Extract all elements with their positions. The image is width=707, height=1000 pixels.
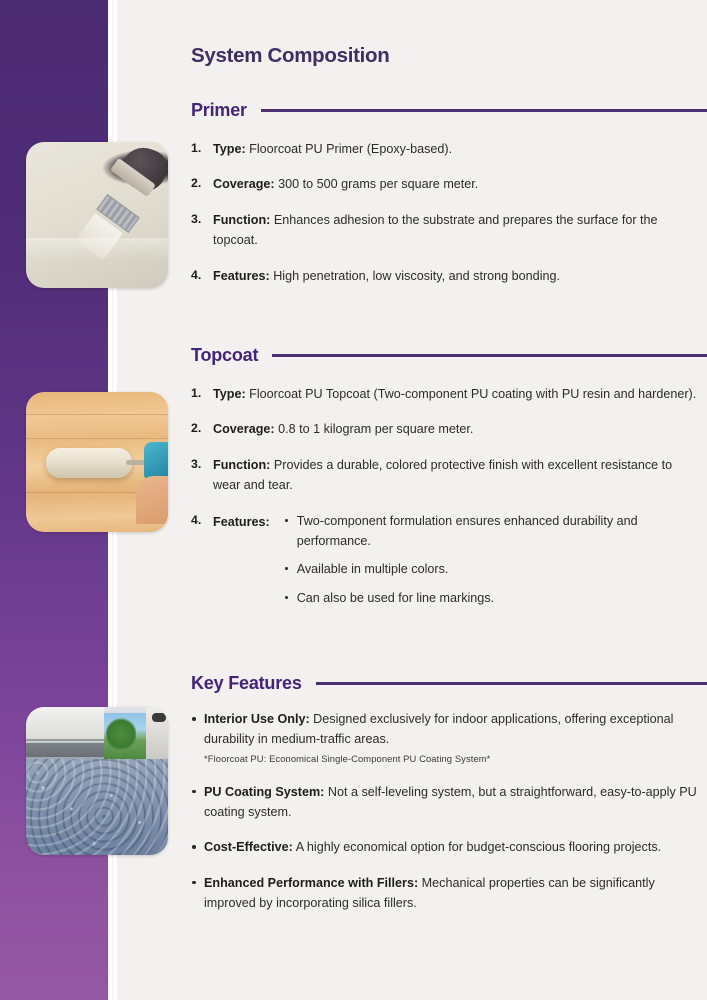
list-item-text: High penetration, low viscosity, and str…	[273, 269, 560, 283]
list-item-text: 300 to 500 grams per square meter.	[278, 177, 478, 191]
list-item: 1.Type: Floorcoat PU Topcoat (Two-compon…	[191, 384, 699, 404]
hand-shape	[136, 476, 168, 524]
list-number: 4.	[191, 266, 201, 286]
primer-photo-image	[26, 142, 168, 288]
list-item: PU Coating System: Not a self-leveling s…	[191, 783, 697, 822]
list-number: 2.	[191, 419, 201, 439]
list-item-label: Function:	[213, 213, 270, 227]
topcoat-photo-image	[26, 392, 168, 532]
list-number: 3.	[191, 210, 201, 230]
garage-door-panel-shape	[26, 743, 104, 757]
list-item-label: Coverage:	[213, 422, 275, 436]
list-item-label: PU Coating System:	[204, 785, 324, 799]
list-item-text: Provides a durable, colored protective f…	[213, 458, 672, 492]
section-key-features: Key Features Interior Use Only: Designed…	[117, 673, 707, 929]
list-item-label: Type:	[213, 387, 246, 401]
list-item-label: Interior Use Only:	[204, 712, 310, 726]
list-item-footnote: *Floorcoat PU: Economical Single-Compone…	[204, 752, 697, 767]
section-rule-key-features	[316, 682, 707, 685]
plank-line	[26, 438, 168, 439]
section-heading-primer: Primer	[191, 100, 247, 121]
list-item-features: 4. Features: Two-component formulation e…	[191, 511, 699, 617]
plank-line	[26, 414, 168, 415]
key-features-list: Interior Use Only: Designed exclusively …	[117, 710, 707, 913]
list-item-text: Enhances adhesion to the substrate and p…	[213, 213, 658, 247]
list-item-text: 0.8 to 1 kilogram per square meter.	[278, 422, 473, 436]
topcoat-list: 1.Type: Floorcoat PU Topcoat (Two-compon…	[117, 384, 707, 616]
list-item-label: Function:	[213, 458, 270, 472]
section-header-topcoat: Topcoat	[117, 345, 707, 366]
list-item: Enhanced Performance with Fillers: Mecha…	[191, 874, 697, 913]
list-item-label: Type:	[213, 142, 246, 156]
section-topcoat: Topcoat 1.Type: Floorcoat PU Topcoat (Tw…	[117, 345, 707, 631]
list-number: 1.	[191, 384, 201, 404]
section-header-primer: Primer	[117, 100, 707, 121]
list-number: 1.	[191, 139, 201, 159]
flake-floor-shape	[26, 759, 168, 855]
primer-photo	[26, 142, 168, 288]
topcoat-photo	[26, 392, 168, 532]
section-heading-key-features: Key Features	[191, 673, 302, 694]
tree-shape	[106, 717, 136, 751]
list-number: 3.	[191, 455, 201, 475]
list-item: Cost-Effective: A highly economical opti…	[191, 838, 697, 858]
section-primer: Primer 1.Type: Floorcoat PU Primer (Epox…	[117, 100, 707, 301]
roller-sleeve-shape	[46, 448, 132, 478]
content-column: System Composition Primer 1.Type: Floorc…	[117, 0, 707, 1000]
sublist-item: Available in multiple colors.	[284, 559, 660, 579]
list-item-text: Floorcoat PU Primer (Epoxy-based).	[249, 142, 452, 156]
list-item: 4.Features: High penetration, low viscos…	[191, 266, 699, 286]
list-item: 2.Coverage: 300 to 500 grams per square …	[191, 174, 699, 194]
list-item-label: Enhanced Performance with Fillers:	[204, 876, 418, 890]
list-item-label: Cost-Effective:	[204, 840, 293, 854]
page-title: System Composition	[191, 44, 390, 68]
list-item: 3.Function: Enhances adhesion to the sub…	[191, 210, 699, 251]
garage-door-shape	[26, 707, 104, 741]
list-item-text: A highly economical option for budget-co…	[296, 840, 661, 854]
key-features-photo-image	[26, 707, 168, 855]
list-item: 1.Type: Floorcoat PU Primer (Epoxy-based…	[191, 139, 699, 159]
list-number: 4.	[191, 511, 201, 531]
list-item: Interior Use Only: Designed exclusively …	[191, 710, 697, 767]
list-item-text: Floorcoat PU Topcoat (Two-component PU c…	[249, 387, 696, 401]
primer-list: 1.Type: Floorcoat PU Primer (Epoxy-based…	[117, 139, 707, 286]
section-rule-topcoat	[272, 354, 707, 357]
topcoat-features-sublist: Two-component formulation ensures enhanc…	[270, 511, 660, 617]
key-features-photo	[26, 707, 168, 855]
list-item: 3.Function: Provides a durable, colored …	[191, 455, 699, 496]
section-rule-primer	[261, 109, 707, 112]
list-item-label: Coverage:	[213, 177, 275, 191]
ceiling-light-shape	[152, 713, 166, 722]
section-header-key-features: Key Features	[117, 673, 707, 694]
sublist-item: Can also be used for line markings.	[284, 588, 660, 608]
list-item: 2.Coverage: 0.8 to 1 kilogram per square…	[191, 419, 699, 439]
document-page: System Composition Primer 1.Type: Floorc…	[0, 0, 707, 1000]
list-number: 2.	[191, 174, 201, 194]
sublist-item: Two-component formulation ensures enhanc…	[284, 511, 660, 552]
floor-sheen-shape	[26, 238, 168, 260]
section-heading-topcoat: Topcoat	[191, 345, 258, 366]
list-item-label: Features:	[213, 511, 270, 532]
list-item-label: Features:	[213, 269, 270, 283]
